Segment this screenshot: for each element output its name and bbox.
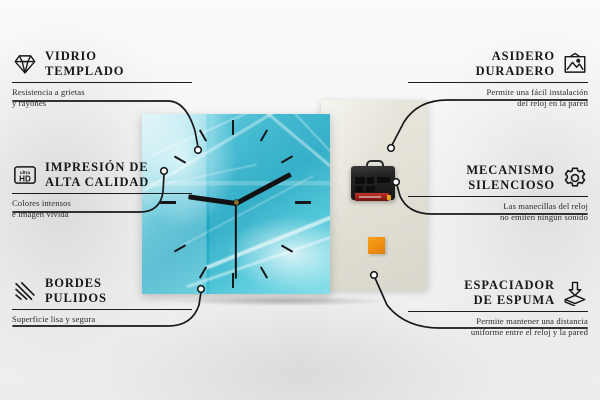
divider: [408, 196, 588, 197]
diamond-icon: [12, 51, 38, 77]
feature-title: BORDES PULIDOS: [45, 276, 107, 306]
feature-asidero-duradero[interactable]: ASIDERO DURADERO Permite una fácil insta…: [408, 49, 588, 110]
mechanism-detail: [366, 186, 375, 192]
feature-title: IMPRESIÓN DE ALTA CALIDAD: [45, 160, 149, 190]
feature-bordes-pulidos[interactable]: BORDES PULIDOS Superficie lisa y segura: [12, 276, 192, 325]
feature-header: MECANISMO SILENCIOSO: [408, 163, 588, 193]
hands-center-cap: [234, 200, 239, 205]
divider: [12, 82, 192, 83]
feature-header: BORDES PULIDOS: [12, 276, 192, 306]
foam-spacer: [368, 237, 385, 254]
mechanism-detail: [355, 186, 363, 192]
feature-title: MECANISMO SILENCIOSO: [466, 163, 555, 193]
divider: [408, 82, 588, 83]
feature-header: VIDRIO TEMPLADO: [12, 49, 192, 79]
divider: [12, 309, 192, 310]
second-hand: [235, 202, 237, 278]
minute-hand: [235, 172, 292, 206]
battery: [355, 193, 389, 201]
clock-mechanism: [351, 160, 395, 200]
feature-header: ultra HD IMPRESIÓN DE ALTA CALIDAD: [12, 160, 192, 190]
divider: [408, 311, 588, 312]
mechanism-detail: [367, 177, 374, 184]
feature-subtitle: Las manecillas del reloj no emiten ningú…: [408, 201, 588, 224]
feature-espaciador-de-espuma[interactable]: ESPACIADOR DE ESPUMA Permite mantener un…: [408, 278, 588, 339]
diagonal-lines-icon: [12, 278, 38, 304]
feature-title: ESPACIADOR DE ESPUMA: [464, 278, 555, 308]
feature-subtitle: Resistencia a grietas y rayones: [12, 87, 192, 110]
feature-header: ESPACIADOR DE ESPUMA: [408, 278, 588, 308]
svg-text:HD: HD: [19, 174, 31, 183]
infographic-canvas: VIDRIO TEMPLADO Resistencia a grietas y …: [0, 0, 600, 400]
mechanism-detail: [377, 177, 390, 183]
arrow-down-layers-icon: [562, 280, 588, 306]
mechanism-detail: [355, 177, 365, 184]
feature-subtitle: Permite mantener una distancia uniforme …: [408, 316, 588, 339]
gear-icon: [562, 165, 588, 191]
divider: [12, 193, 192, 194]
feature-title: ASIDERO DURADERO: [476, 49, 555, 79]
feature-vidrio-templado[interactable]: VIDRIO TEMPLADO Resistencia a grietas y …: [12, 49, 192, 110]
feature-mecanismo-silencioso[interactable]: MECANISMO SILENCIOSO Las manecillas del …: [408, 163, 588, 224]
feature-subtitle: Permite una fácil instalación del reloj …: [408, 87, 588, 110]
feature-subtitle: Superficie lisa y segura: [12, 314, 192, 325]
picture-frame-hanger-icon: [562, 51, 588, 77]
feature-subtitle: Colores intensos e imagen vívida: [12, 198, 192, 221]
feature-title: VIDRIO TEMPLADO: [45, 49, 124, 79]
mechanism-body: [351, 166, 395, 200]
feature-header: ASIDERO DURADERO: [408, 49, 588, 79]
hour-hand: [188, 194, 236, 206]
feature-impresion-alta-calidad[interactable]: ultra HD IMPRESIÓN DE ALTA CALIDAD Color…: [12, 160, 192, 221]
ultra-hd-icon: ultra HD: [12, 162, 38, 188]
